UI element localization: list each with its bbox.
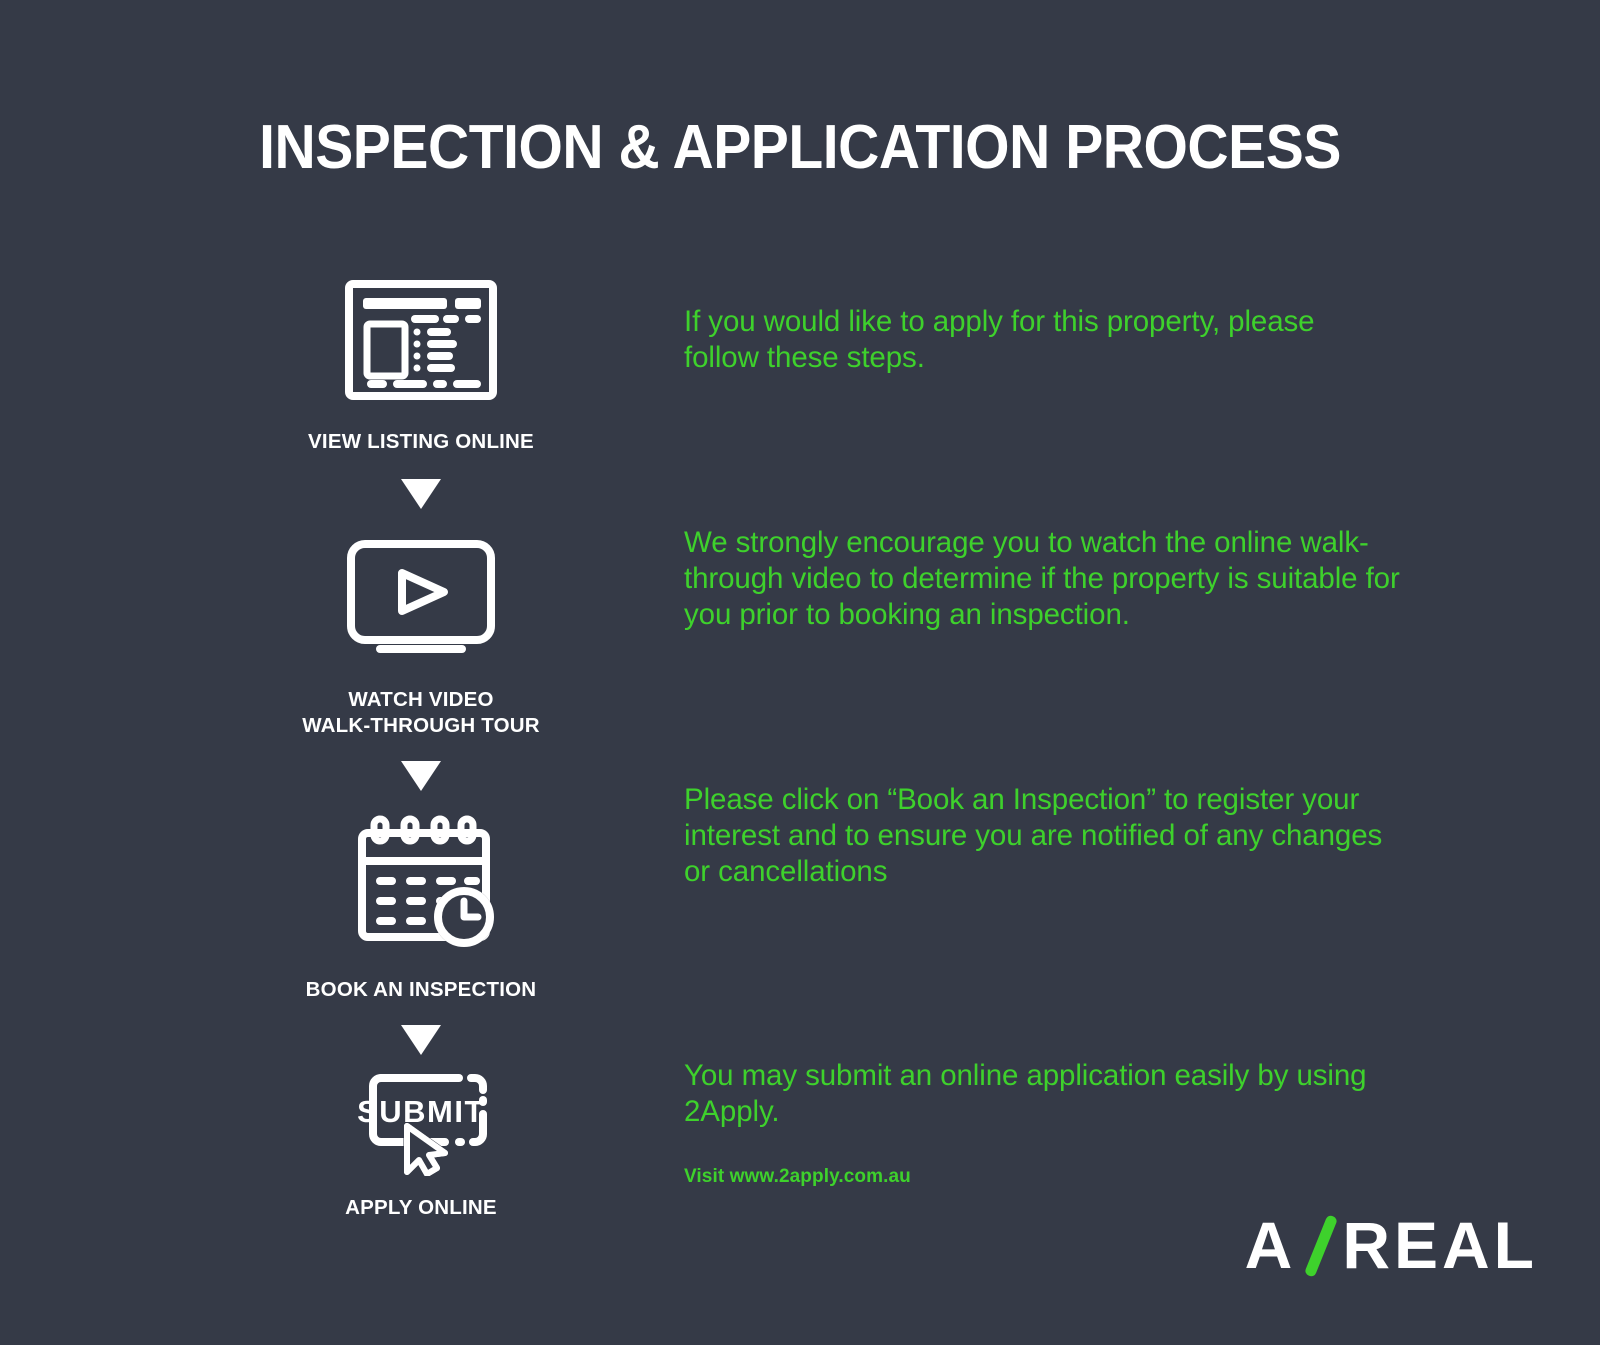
step-book-an-inspection[interactable]: BOOK AN INSPECTION: [285, 807, 557, 1003]
paragraph-inspection: Please click on “Book an Inspection” to …: [684, 782, 1384, 890]
step-label-line1: WATCH VIDEO: [285, 687, 557, 713]
page-title: INSPECTION & APPLICATION PROCESS: [64, 112, 1536, 183]
step-label: WATCH VIDEO WALK-THROUGH TOUR: [285, 687, 557, 739]
logo-word-real: REAL: [1342, 1207, 1538, 1283]
steps-column: VIEW LISTING ONLINE WATCH VIDEO WALK-THR…: [285, 265, 557, 1221]
flow-arrow-2: [285, 761, 557, 791]
paragraph-apply: You may submit an online application eas…: [684, 1058, 1384, 1130]
step-view-listing-online[interactable]: VIEW LISTING ONLINE: [285, 265, 557, 455]
paragraph-intro: If you would like to apply for this prop…: [684, 304, 1324, 376]
step-label: VIEW LISTING ONLINE: [285, 429, 557, 455]
step-label-line2: WALK-THROUGH TOUR: [285, 713, 557, 739]
submit-icon-text: SUBMIT: [357, 1094, 485, 1129]
step-label: APPLY ONLINE: [285, 1195, 557, 1221]
step-label: BOOK AN INSPECTION: [285, 977, 557, 1003]
step-apply-online[interactable]: SUBMIT APPLY ONLINE: [285, 1067, 557, 1221]
step-watch-video[interactable]: WATCH VIDEO WALK-THROUGH TOUR: [285, 523, 557, 739]
logo-letter-a: A: [1245, 1207, 1297, 1283]
green-slash-icon: [1304, 1212, 1338, 1278]
infographic-page: INSPECTION & APPLICATION PROCESS: [0, 0, 1600, 1345]
flow-arrow-1: [285, 479, 557, 509]
calendar-clock-icon: [285, 807, 557, 957]
browser-listing-icon: [285, 265, 557, 415]
step-label-line1: APPLY ONLINE: [285, 1195, 557, 1221]
step-label-line1: VIEW LISTING ONLINE: [285, 429, 557, 455]
step-label-line1: BOOK AN INSPECTION: [285, 977, 557, 1003]
brand-logo: A REAL: [1245, 1207, 1538, 1283]
submit-button-cursor-icon: SUBMIT: [285, 1067, 557, 1177]
paragraph-video: We strongly encourage you to watch the o…: [684, 525, 1404, 633]
visit-link[interactable]: Visit www.2apply.com.au: [684, 1166, 911, 1188]
flow-arrow-3: [285, 1025, 557, 1055]
video-play-monitor-icon: [285, 523, 557, 673]
